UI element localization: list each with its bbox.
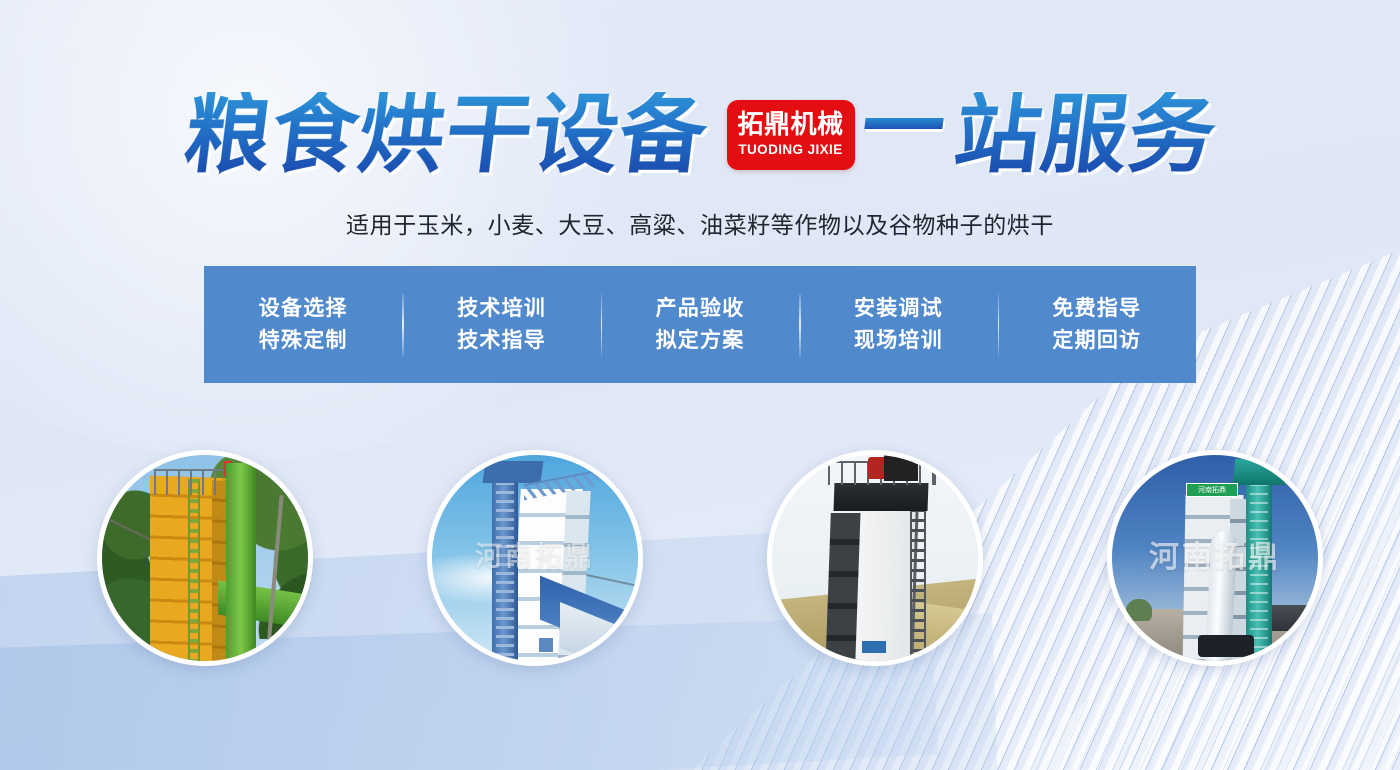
promo-banner: 粮食烘干设备 拓鼎机械 TUODING JIXIE 站服务 适用于玉米，小麦、大… <box>0 0 1400 770</box>
feature-line-1: 免费指导 <box>998 293 1196 324</box>
feature-line-1: 产品验收 <box>601 293 799 324</box>
product-photo-teal-dryer: 河南拓鼎 河南拓鼎 <box>1107 450 1323 666</box>
feature-item-product-acceptance: 产品验收 拟定方案 <box>601 293 799 355</box>
feature-item-installation-commissioning: 安装调试 现场培训 <box>799 293 997 355</box>
feature-line-2: 拟定方案 <box>601 325 799 356</box>
brand-name-cn: 拓鼎机械 <box>737 112 843 139</box>
headline-row: 粮食烘干设备 拓鼎机械 TUODING JIXIE 站服务 <box>0 82 1400 187</box>
headline-secondary: 站服务 <box>949 92 1221 178</box>
feature-line-2: 定期回访 <box>998 325 1196 356</box>
feature-line-1: 设备选择 <box>204 293 402 324</box>
feature-line-2: 技术指导 <box>402 325 600 356</box>
feature-line-2: 特殊定制 <box>204 325 402 356</box>
feature-line-1: 技术培训 <box>402 293 600 324</box>
product-photo-yellow-dryer <box>97 450 313 666</box>
brand-name-en: TUODING JIXIE <box>738 142 842 157</box>
brand-badge: 拓鼎机械 TUODING JIXIE <box>727 100 855 170</box>
headline-dash-stroke <box>864 118 943 129</box>
feature-line-2: 现场培训 <box>799 325 997 356</box>
feature-line-1: 安装调试 <box>799 293 997 324</box>
feature-item-technical-training: 技术培训 技术指导 <box>402 293 600 355</box>
headline-primary: 粮食烘干设备 <box>179 92 712 178</box>
feature-item-equipment-selection: 设备选择 特殊定制 <box>204 293 402 355</box>
service-feature-bar: 设备选择 特殊定制 技术培训 技术指导 产品验收 拟定方案 安装调试 现场培训 … <box>204 266 1196 383</box>
product-photo-grey-dryer <box>767 450 983 666</box>
banner-subtitle: 适用于玉米，小麦、大豆、高粱、油菜籽等作物以及谷物种子的烘干 <box>0 206 1400 240</box>
photo-sign-label: 河南拓鼎 <box>1186 483 1238 497</box>
product-photo-blue-dryer: 河南拓鼎 <box>427 450 643 666</box>
feature-item-free-guidance: 免费指导 定期回访 <box>998 293 1196 355</box>
